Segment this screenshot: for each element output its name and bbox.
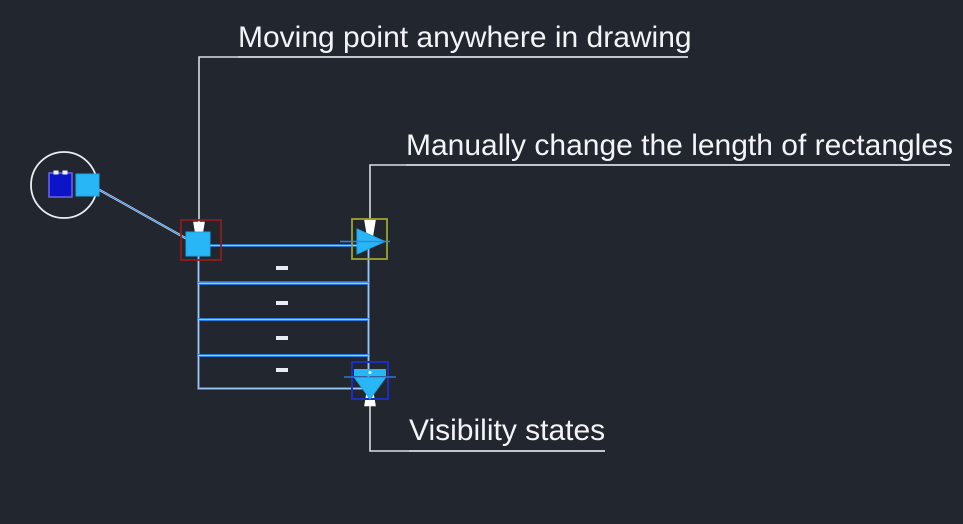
circle-grip-square[interactable]: [76, 174, 99, 196]
annotation-underlines: [238, 57, 950, 451]
annotation-moving-point: Moving point anywhere in drawing: [238, 21, 692, 55]
cad-drawing-canvas: Moving point anywhere in drawing Manuall…: [0, 0, 963, 524]
leader-manual-length: [365, 165, 951, 238]
annotation-manual-length: Manually change the length of rectangles: [406, 129, 953, 163]
grip-visibility-states[interactable]: [344, 362, 396, 399]
grip-linear-stretch[interactable]: [340, 219, 390, 259]
annotation-visibility-states: Visibility states: [409, 414, 605, 448]
base-point-marker[interactable]: [49, 171, 72, 198]
